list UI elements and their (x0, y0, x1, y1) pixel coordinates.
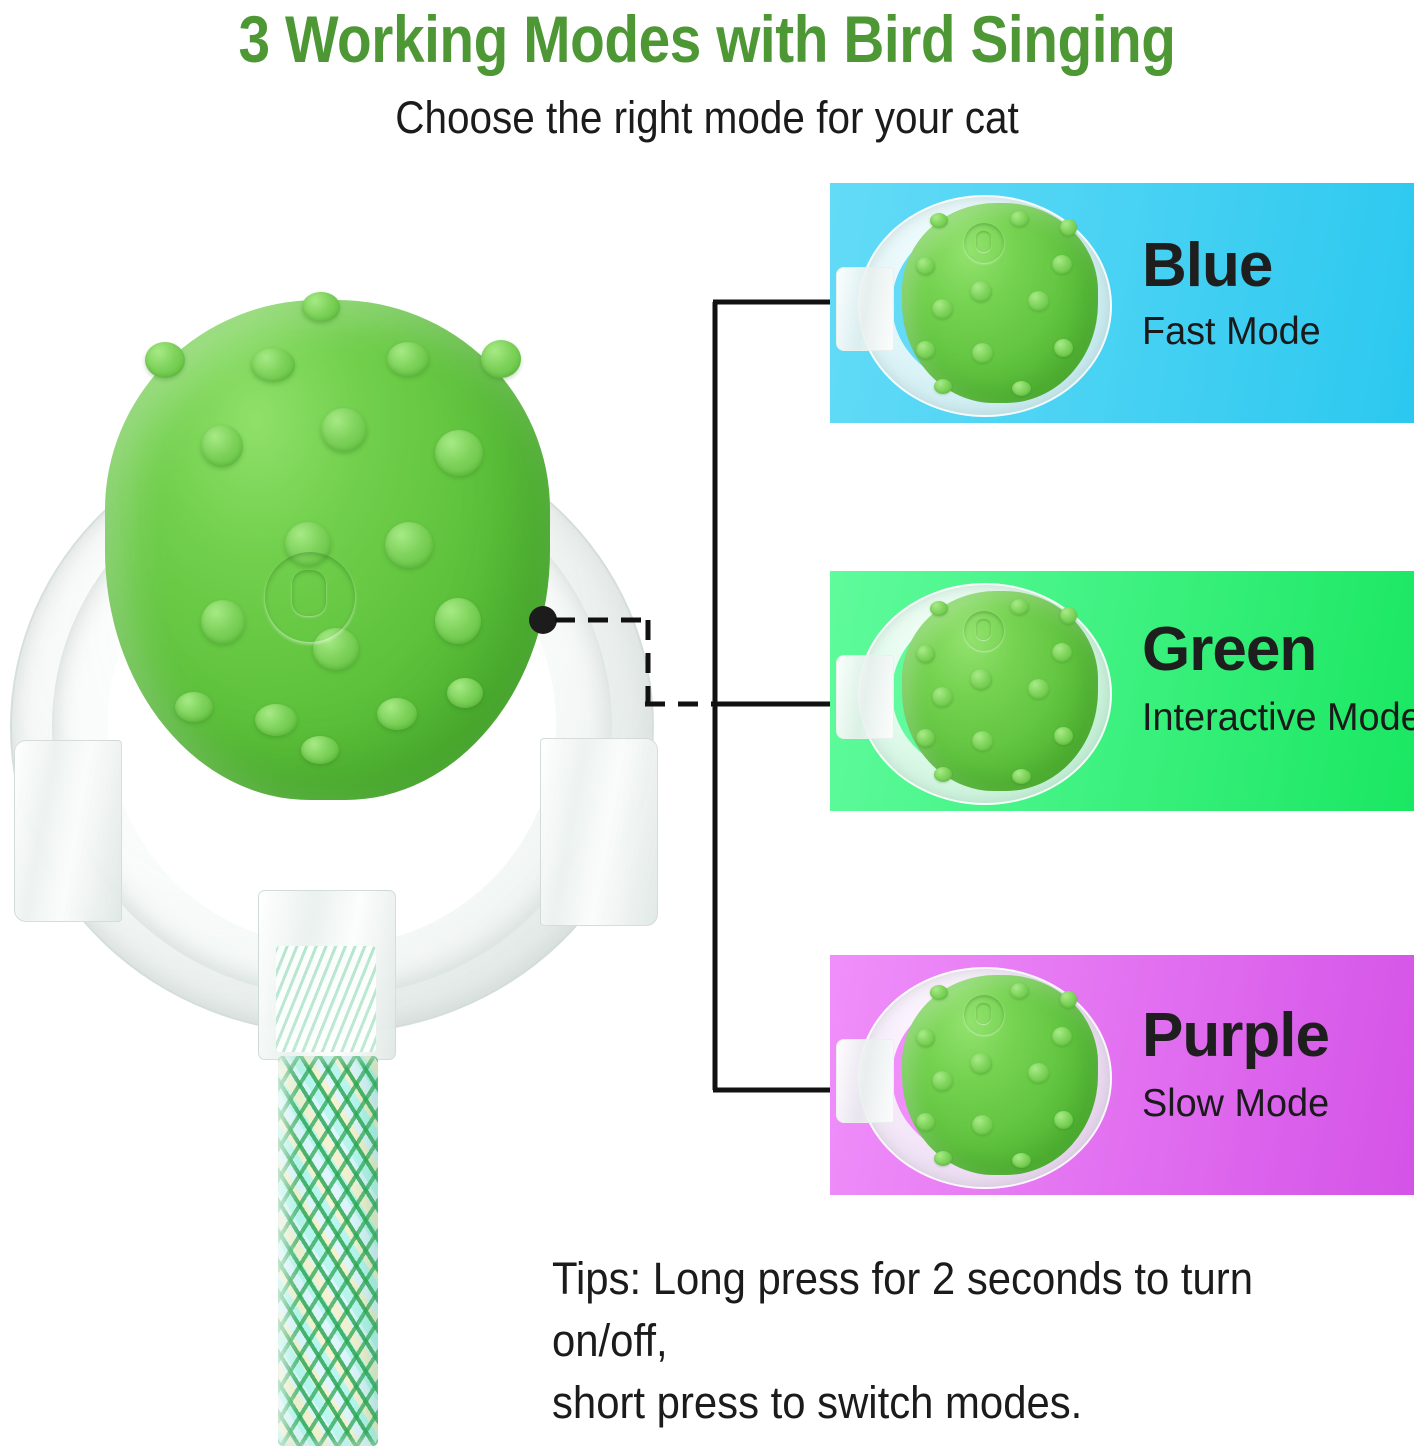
ball-bump (321, 408, 367, 452)
housing-clip (836, 1039, 894, 1123)
mode-description: Slow Mode (1142, 1081, 1329, 1127)
ball-bump (970, 1053, 992, 1074)
ball-bump (916, 1029, 935, 1047)
mode-description: Fast Mode (1142, 309, 1321, 355)
ball-bump (435, 430, 483, 476)
ball-bump (970, 281, 992, 302)
ball-bump (1028, 1063, 1049, 1083)
ball-bump (447, 678, 483, 708)
ball-bump (916, 729, 935, 747)
ball-bump (932, 1071, 953, 1091)
power-button-icon[interactable] (265, 552, 355, 642)
ball-bump (387, 342, 429, 376)
mode-thumbnail-purple (830, 955, 1130, 1195)
button-location-dot (529, 606, 557, 634)
ball-bump (932, 299, 953, 319)
ball-bump (932, 687, 953, 707)
tips-line-2: short press to switch modes. (552, 1372, 1352, 1434)
ball-bump (1028, 679, 1049, 699)
mode-description: Interactive Mode (1142, 695, 1414, 741)
ball-bump (385, 522, 433, 568)
mode-panel-green[interactable]: Green Interactive Mode (830, 571, 1414, 811)
ball-bump (1054, 1111, 1073, 1129)
ball-bump (1012, 769, 1031, 784)
ball-bump (1052, 643, 1072, 662)
ball-bump (934, 1151, 952, 1166)
housing-clip (836, 655, 894, 739)
iridescent-wand-rod (278, 1056, 378, 1446)
ball-bump (934, 767, 952, 782)
green-silicone-ball (902, 203, 1098, 403)
ball-bump (255, 704, 297, 736)
ball-bump (930, 601, 948, 616)
ball-bump (916, 1113, 935, 1131)
header: 3 Working Modes with Bird Singing Choose… (0, 0, 1414, 160)
ball-bump (1054, 727, 1073, 745)
mode-label-group-blue: Blue Fast Mode (1142, 183, 1414, 423)
mode-panel-blue[interactable]: Blue Fast Mode (830, 183, 1414, 423)
housing-clip (836, 267, 894, 351)
green-silicone-ball (902, 975, 1098, 1175)
mode-color-name: Purple (1142, 1003, 1329, 1069)
ball-bump (301, 736, 339, 764)
ball-bump (1060, 607, 1077, 624)
ball-bump (302, 292, 340, 322)
callout-connector (500, 280, 860, 1120)
mode-thumbnail-green (830, 571, 1130, 811)
tips-line-1: Tips: Long press for 2 seconds to turn o… (552, 1248, 1352, 1372)
ball-bump (1012, 1153, 1031, 1168)
green-silicone-ball (105, 300, 550, 800)
ball-bump (1060, 219, 1077, 236)
mode-color-name: Green (1142, 617, 1316, 683)
power-button-icon (964, 223, 1004, 263)
mode-panel-purple[interactable]: Purple Slow Mode (830, 955, 1414, 1195)
ball-bump (201, 425, 243, 467)
ball-bump (934, 379, 952, 394)
ball-bump (201, 600, 245, 644)
mode-thumbnail-blue (830, 183, 1130, 423)
ball-bump (1060, 991, 1077, 1008)
page-subtitle: Choose the right mode for your cat (71, 92, 1344, 144)
ball-bump (1054, 339, 1073, 357)
ball-bump (1010, 983, 1029, 999)
ball-bump (377, 698, 417, 730)
ball-bump (1028, 291, 1049, 311)
green-silicone-ball (902, 591, 1098, 791)
ball-bump (972, 731, 993, 751)
ball-bump (930, 213, 948, 228)
wand-connector-core (276, 946, 376, 1052)
ball-bump (251, 348, 295, 382)
ball-bump (916, 341, 935, 359)
tips-text: Tips: Long press for 2 seconds to turn o… (552, 1248, 1352, 1434)
ball-bump (175, 692, 213, 722)
callout-lines-svg (500, 280, 860, 1120)
ball-bump (916, 645, 935, 663)
ball-bump (1010, 599, 1029, 615)
mode-label-group-purple: Purple Slow Mode (1142, 955, 1414, 1195)
housing-clip-left (14, 740, 122, 922)
ball-bump (1052, 1027, 1072, 1046)
ball-bump (1010, 211, 1029, 227)
ball-bump (972, 343, 993, 363)
ball-bump (1012, 381, 1031, 396)
ball-bump (916, 257, 935, 275)
mode-color-name: Blue (1142, 233, 1272, 299)
page-title: 3 Working Modes with Bird Singing (99, 2, 1315, 76)
ball-bump (970, 669, 992, 690)
mode-label-group-green: Green Interactive Mode (1142, 571, 1414, 811)
power-button-icon (964, 611, 1004, 651)
ball-bump (1052, 255, 1072, 274)
ball-bump (435, 598, 481, 644)
ball-bump (145, 342, 185, 378)
ball-bump (972, 1115, 993, 1135)
ball-bump (930, 985, 948, 1000)
power-button-icon (964, 995, 1004, 1035)
